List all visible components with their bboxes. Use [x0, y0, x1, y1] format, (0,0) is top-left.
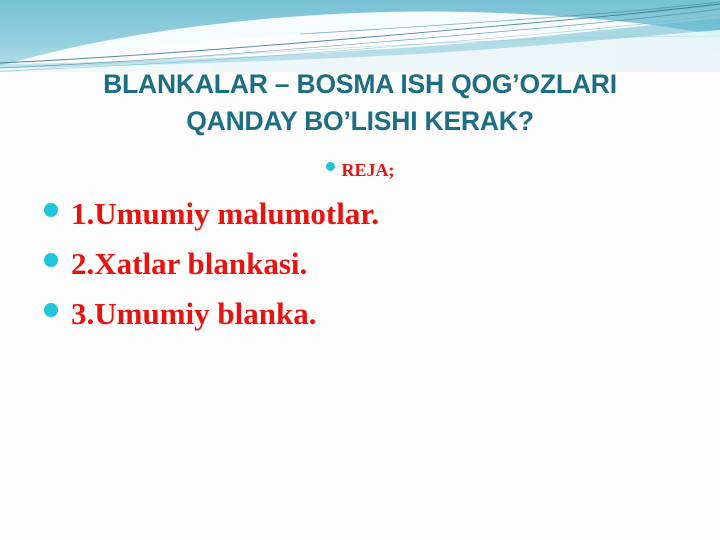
list-item-label: 1.Umumiy malumotlar.: [71, 192, 379, 236]
bullet-icon: [326, 162, 335, 171]
list-item: 2.Xatlar blankasi.: [44, 242, 704, 292]
presentation-slide: BLANKALAR – BOSMA ISH QOG’OZLARI QANDAY …: [0, 0, 720, 540]
reja-heading-row: REJA;: [0, 158, 720, 182]
reja-label: REJA;: [342, 158, 395, 182]
list-item: 3.Umumiy blanka.: [44, 292, 704, 342]
page-title: BLANKALAR – BOSMA ISH QOG’OZLARI QANDAY …: [0, 66, 720, 140]
agenda-list: 1.Umumiy malumotlar. 2.Xatlar blankasi. …: [44, 192, 704, 342]
list-item: 1.Umumiy malumotlar.: [44, 192, 704, 242]
bullet-icon: [44, 253, 58, 267]
bullet-icon: [44, 203, 58, 217]
title-line-2: QANDAY BO’LISHI KERAK?: [0, 103, 720, 140]
list-item-label: 2.Xatlar blankasi.: [71, 242, 307, 286]
list-item-label: 3.Umumiy blanka.: [71, 292, 316, 336]
bullet-icon: [44, 303, 58, 317]
wave-banner: [0, 0, 720, 72]
title-line-1: BLANKALAR – BOSMA ISH QOG’OZLARI: [0, 66, 720, 103]
